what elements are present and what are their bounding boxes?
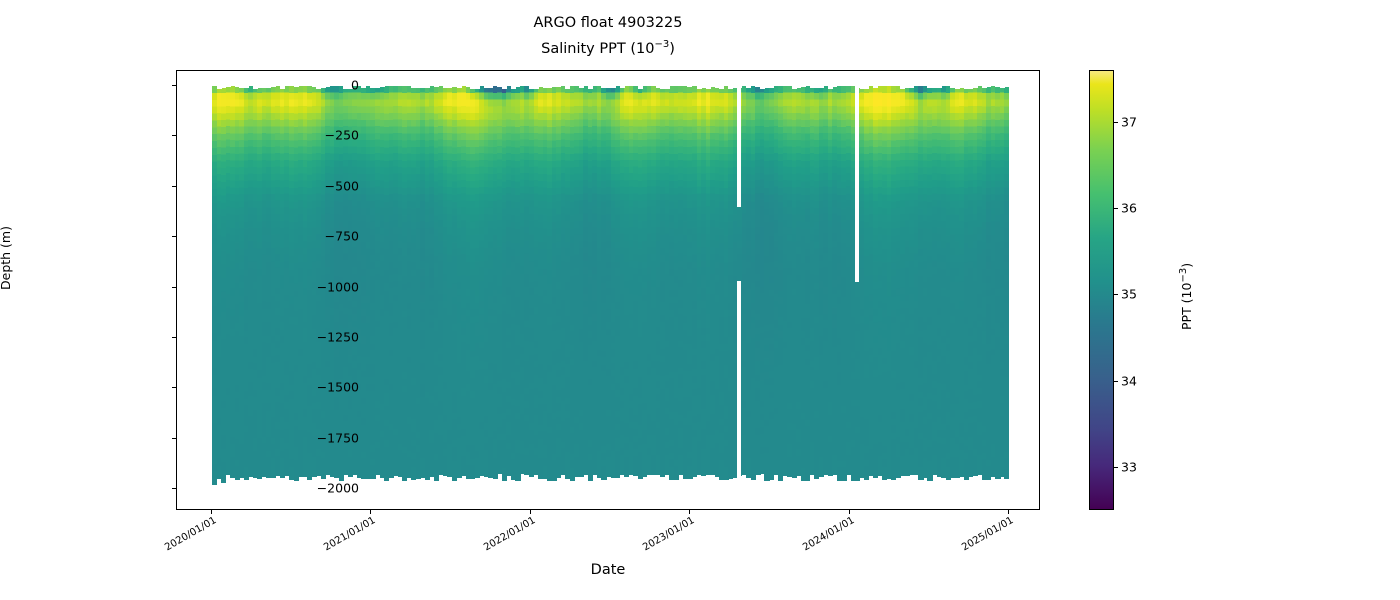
surface-edge-notch xyxy=(769,86,774,88)
y-tick-label: 0 xyxy=(351,78,359,93)
surface-edge-notch xyxy=(665,86,670,89)
chart-title: ARGO float 4903225 Salinity PPT (10−3) xyxy=(176,13,1040,60)
title-line-2-suffix: ) xyxy=(669,41,675,57)
colorbar-label-suffix: ) xyxy=(1179,263,1194,268)
surface-edge-notch xyxy=(226,86,231,87)
plot-area xyxy=(176,70,1040,510)
surface-edge-notch xyxy=(271,86,276,87)
y-tick-mark xyxy=(172,387,176,388)
y-tick-mark xyxy=(172,337,176,338)
colorbar-tick-mark xyxy=(1114,122,1118,123)
surface-edge-notch xyxy=(244,86,249,88)
data-gap xyxy=(737,86,741,207)
y-tick-label: −250 xyxy=(325,128,359,143)
colorbar-tick-mark xyxy=(1114,381,1118,382)
heatmap-container xyxy=(177,71,1039,509)
colorbar-label-prefix: PPT (10 xyxy=(1179,283,1194,330)
surface-edge-notch xyxy=(719,86,724,89)
surface-edge-notch xyxy=(294,86,299,87)
surface-edge-notch xyxy=(737,86,742,88)
x-tick-mark xyxy=(849,510,850,514)
x-tick-mark xyxy=(211,510,212,514)
y-tick-mark xyxy=(172,186,176,187)
surface-edge-notch xyxy=(434,86,439,87)
surface-edge-notch xyxy=(488,86,493,88)
colorbar-tick-label: 33 xyxy=(1121,459,1137,474)
y-tick-label: −1250 xyxy=(317,329,359,344)
colorbar-tick-mark xyxy=(1114,467,1118,468)
surface-edge-notch xyxy=(746,86,751,88)
x-tick-mark xyxy=(1008,510,1009,514)
colorbar-tick-mark xyxy=(1114,208,1118,209)
y-tick-label: −1750 xyxy=(317,430,359,445)
surface-edge-notch xyxy=(425,86,430,88)
x-tick-mark xyxy=(689,510,690,514)
surface-edge-notch xyxy=(864,86,869,89)
colorbar xyxy=(1089,70,1114,510)
x-tick-label: 2025/01/01 xyxy=(958,515,1015,555)
x-axis-label: Date xyxy=(176,562,1040,578)
surface-edge-notch xyxy=(937,86,942,88)
y-tick-label: −1000 xyxy=(317,279,359,294)
colorbar-tick-label: 35 xyxy=(1121,287,1137,302)
surface-edge-notch xyxy=(588,86,593,89)
y-tick-label: −500 xyxy=(325,178,359,193)
profile-column xyxy=(1004,86,1009,479)
colorbar-label: PPT (10−3) xyxy=(1178,263,1194,330)
argo-salinity-figure: ARGO float 4903225 Salinity PPT (10−3) 0… xyxy=(0,0,1400,600)
title-line-2-exponent: −3 xyxy=(654,39,669,50)
x-tick-label: 2022/01/01 xyxy=(480,515,537,555)
surface-edge-notch xyxy=(579,86,584,88)
x-tick-label: 2020/01/01 xyxy=(161,515,218,555)
title-line-2-prefix: Salinity PPT (10 xyxy=(541,41,654,57)
x-tick-mark xyxy=(370,510,371,514)
colorbar-label-exponent: −3 xyxy=(1178,268,1189,283)
surface-edge-notch xyxy=(280,86,285,89)
colorbar-tick-mark xyxy=(1114,294,1118,295)
y-tick-label: −750 xyxy=(325,229,359,244)
x-tick-label: 2024/01/01 xyxy=(799,515,856,555)
surface-edge-notch xyxy=(565,86,570,89)
title-line-1: ARGO float 4903225 xyxy=(176,13,1040,34)
surface-edge-notch xyxy=(457,86,462,88)
surface-edge-notch xyxy=(638,86,643,89)
surface-edge-notch xyxy=(325,86,330,87)
surface-edge-notch xyxy=(361,86,366,88)
y-tick-mark xyxy=(172,438,176,439)
surface-edge-notch xyxy=(1004,86,1009,87)
surface-edge-notch xyxy=(611,86,616,88)
y-tick-mark xyxy=(172,135,176,136)
surface-edge-notch xyxy=(687,86,692,87)
x-tick-label: 2023/01/01 xyxy=(639,515,696,555)
surface-edge-notch xyxy=(986,86,991,87)
surface-edge-notch xyxy=(380,86,385,87)
surface-edge-notch xyxy=(801,86,806,87)
surface-edge-notch xyxy=(475,86,480,89)
data-gap xyxy=(737,281,741,489)
surface-edge-notch xyxy=(973,86,978,88)
surface-edge-notch xyxy=(819,86,824,88)
data-gap xyxy=(855,86,859,282)
colorbar-tick-label: 34 xyxy=(1121,373,1137,388)
title-line-2: Salinity PPT (10−3) xyxy=(176,34,1040,60)
y-tick-mark xyxy=(172,488,176,489)
surface-edge-notch xyxy=(620,86,625,88)
y-axis-label: Depth (m) xyxy=(0,226,13,290)
x-tick-mark xyxy=(530,510,531,514)
surface-edge-notch xyxy=(909,86,914,88)
y-tick-mark xyxy=(172,85,176,86)
y-tick-mark xyxy=(172,287,176,288)
x-tick-label: 2021/01/01 xyxy=(320,515,377,555)
y-tick-label: −1500 xyxy=(317,380,359,395)
surface-edge-notch xyxy=(502,86,507,89)
surface-edge-notch xyxy=(556,86,561,87)
y-tick-label: −2000 xyxy=(317,481,359,496)
surface-edge-notch xyxy=(515,86,520,87)
y-tick-mark xyxy=(172,236,176,237)
colorbar-tick-label: 36 xyxy=(1121,201,1137,216)
surface-edge-notch xyxy=(873,86,878,88)
colorbar-tick-label: 37 xyxy=(1121,114,1137,129)
surface-edge-notch xyxy=(832,86,837,87)
